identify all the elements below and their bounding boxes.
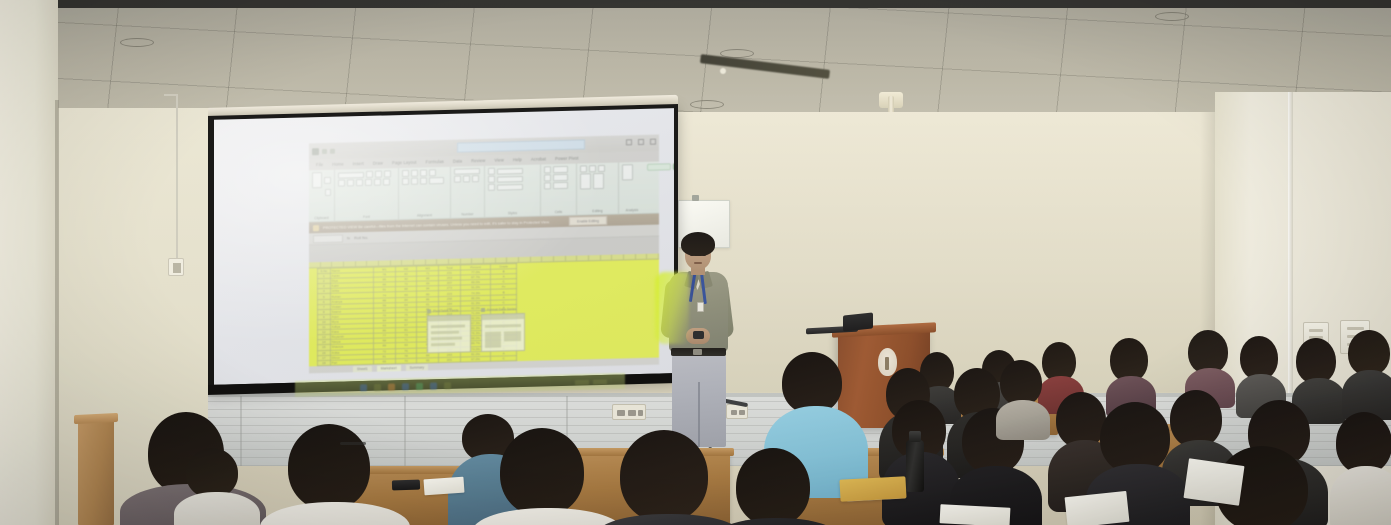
- panel-row: [431, 337, 462, 341]
- group-label: Clipboard: [312, 216, 331, 221]
- restore-icon[interactable]: [638, 139, 644, 145]
- panel-checkbox[interactable]: [481, 308, 485, 312]
- wall-cable: [176, 96, 178, 264]
- ceiling-vent-icon: [120, 38, 154, 47]
- explorer-icon: [388, 383, 395, 390]
- table-cell[interactable]: 65: [374, 358, 396, 364]
- comments-button[interactable]: [673, 163, 674, 171]
- student-body: [1330, 466, 1391, 525]
- bottle-cap: [909, 431, 921, 442]
- projected-excel-window: File Home Insert Draw Page Layout Formul…: [309, 135, 659, 376]
- format-table-icon[interactable]: [488, 176, 495, 183]
- panel-row: [485, 324, 521, 328]
- format-label[interactable]: [553, 182, 568, 189]
- glasses-icon: [340, 442, 366, 445]
- close-icon[interactable]: [650, 139, 656, 145]
- group-label: Analysis: [622, 208, 642, 214]
- student: [1000, 360, 1048, 430]
- align-right-icon[interactable]: [420, 177, 427, 184]
- cable-junction-box: [168, 258, 184, 276]
- tab-formulas[interactable]: Formulas: [426, 159, 444, 164]
- bold-icon[interactable]: [338, 179, 345, 186]
- student: [736, 448, 816, 525]
- start-icon: [360, 384, 367, 391]
- search-input[interactable]: [457, 139, 585, 152]
- window-controls[interactable]: [626, 139, 656, 146]
- format-series-panel-title: Format Data Series: [487, 307, 516, 312]
- tab-acrobat[interactable]: Acrobat: [531, 156, 546, 161]
- student: [1240, 336, 1284, 406]
- clear-icon[interactable]: [598, 165, 605, 172]
- format-cells-icon[interactable]: [544, 182, 551, 189]
- tray-icons: [593, 379, 607, 384]
- fx-icon: fx: [347, 235, 350, 240]
- panel-header: [482, 314, 524, 320]
- insert-label[interactable]: [553, 166, 568, 173]
- panel-row: [485, 332, 501, 348]
- merge-cells-icon[interactable]: [429, 177, 444, 184]
- cut-icon[interactable]: [324, 176, 331, 183]
- ribbon-group-alignment[interactable]: Alignment: [399, 167, 451, 219]
- clock: [575, 379, 589, 384]
- font-size-select[interactable]: [366, 171, 373, 178]
- handheld-device: [693, 331, 704, 339]
- ceiling-vent-icon: [1155, 12, 1189, 21]
- presenter: [655, 232, 739, 447]
- student: [500, 428, 594, 525]
- table-cell[interactable]: 201: [439, 357, 461, 363]
- tab-insert[interactable]: Insert: [353, 161, 364, 166]
- border-icon[interactable]: [365, 179, 372, 186]
- autosum-icon[interactable]: [580, 165, 587, 172]
- font-color-icon[interactable]: [383, 178, 390, 185]
- ribbon-group-styles[interactable]: Styles: [485, 165, 541, 217]
- student: [1348, 330, 1391, 410]
- mouth: [694, 262, 702, 264]
- power-socket[interactable]: [612, 404, 646, 420]
- ceiling-fixture-icon: [720, 68, 726, 74]
- student-glasses: [340, 440, 368, 452]
- align-bottom-icon[interactable]: [420, 169, 427, 176]
- search-icon: [374, 383, 381, 390]
- ribbon-group-font[interactable]: Font: [335, 168, 399, 221]
- currency-icon[interactable]: [454, 176, 461, 183]
- panel-header: [428, 315, 470, 321]
- panel-row: [431, 324, 465, 328]
- wooden-cabinet: [78, 420, 114, 525]
- teams-icon: [444, 382, 451, 389]
- ribbon-group-number[interactable]: Number: [451, 166, 485, 218]
- tab-draw[interactable]: Draw: [373, 161, 383, 166]
- redo-icon[interactable]: [330, 148, 335, 153]
- cell-styles-label[interactable]: [497, 183, 523, 190]
- group-label: Number: [454, 212, 481, 218]
- student-head: [782, 352, 842, 414]
- table-cell[interactable]: 70: [395, 358, 417, 364]
- tab-view[interactable]: View: [494, 157, 503, 162]
- id-badge: [697, 302, 704, 312]
- conditional-formatting-icon[interactable]: [488, 168, 495, 175]
- student-head: [288, 424, 370, 510]
- save-icon[interactable]: [312, 148, 319, 155]
- screen-surface: File Home Insert Draw Page Layout Formul…: [214, 108, 674, 385]
- ribbon[interactable]: Clipboard Font Alignment: [309, 162, 659, 223]
- sheet-tab-sheet1[interactable]: Sheet1: [353, 365, 372, 371]
- student: [186, 448, 248, 525]
- pivottable-panel-title: PivotTable Fields: [433, 309, 459, 314]
- quick-access-toolbar[interactable]: [312, 147, 335, 155]
- group-label: Editing: [580, 209, 615, 215]
- mobile-phone: [392, 480, 420, 491]
- ceiling-top-strip: [0, 0, 1391, 8]
- align-center-icon[interactable]: [411, 178, 418, 185]
- student-head: [186, 448, 238, 498]
- tab-review[interactable]: Review: [471, 158, 485, 163]
- tab-help[interactable]: Help: [513, 157, 522, 162]
- find-select-icon[interactable]: [593, 173, 604, 189]
- conditional-formatting-label[interactable]: [497, 167, 523, 174]
- tab-home[interactable]: Home: [332, 162, 344, 167]
- percent-icon[interactable]: [463, 175, 470, 182]
- papers: [1183, 458, 1244, 505]
- warning-icon: [313, 225, 319, 231]
- projector-light-glare: [655, 272, 689, 344]
- ribbon-group-analysis[interactable]: Analysis: [619, 162, 645, 214]
- share-button[interactable]: [647, 163, 671, 171]
- tab-file[interactable]: File: [316, 162, 323, 167]
- table-cell[interactable]: 18: [318, 360, 331, 365]
- tab-power-pivot[interactable]: Power Pivot: [555, 156, 578, 162]
- water-bottle: [906, 440, 924, 492]
- classroom-photo: File Home Insert Draw Page Layout Formul…: [0, 0, 1391, 525]
- format-series-panel[interactable]: [481, 313, 525, 352]
- chrome-icon: [402, 383, 409, 390]
- student-head: [620, 430, 708, 522]
- fill-color-icon[interactable]: [374, 179, 381, 186]
- papers: [940, 504, 1011, 525]
- copy-icon[interactable]: [325, 189, 331, 196]
- italic-icon[interactable]: [347, 179, 354, 186]
- ribbon-group-clipboard[interactable]: Clipboard: [309, 170, 335, 222]
- align-left-icon[interactable]: [402, 178, 409, 185]
- ribbon-group-editing[interactable]: Editing: [577, 163, 619, 215]
- panel-row: [431, 343, 455, 347]
- whiteboard-clip-icon: [692, 195, 699, 201]
- ceiling-vent-icon: [720, 49, 754, 58]
- group-label: Cells: [544, 210, 573, 216]
- format-table-label[interactable]: [497, 175, 523, 182]
- left-wall-edge: [55, 100, 59, 525]
- worksheet-grid[interactable]: S.NoNameM1M2M3TotalPercentGrade1Aarav788…: [309, 254, 659, 367]
- belt-buckle: [693, 349, 702, 355]
- textbook: [839, 476, 906, 501]
- underline-icon[interactable]: [356, 179, 363, 186]
- laptop-screen[interactable]: [843, 312, 873, 331]
- projection-screen[interactable]: File Home Insert Draw Page Layout Formul…: [206, 104, 678, 392]
- analyze-data-icon[interactable]: [622, 164, 633, 180]
- student-body: [996, 400, 1050, 440]
- panel-row: [431, 331, 459, 335]
- student-body: [174, 492, 260, 525]
- table-cell[interactable]: C: [491, 355, 517, 361]
- student: [620, 430, 716, 525]
- cell-styles-icon[interactable]: [488, 184, 495, 191]
- comma-icon[interactable]: [472, 175, 479, 182]
- excel-icon: [416, 382, 423, 389]
- papers: [1065, 491, 1130, 525]
- orientation-icon[interactable]: [429, 169, 436, 176]
- ribbon-group-cells[interactable]: Cells: [541, 164, 577, 216]
- student-head: [736, 448, 810, 525]
- ribbon-right-buttons[interactable]: [645, 161, 674, 213]
- insert-cells-icon[interactable]: [544, 166, 551, 173]
- presenter-hair: [681, 232, 715, 256]
- undo-icon[interactable]: [322, 148, 327, 153]
- increase-font-icon[interactable]: [375, 171, 382, 178]
- student-head: [500, 428, 584, 516]
- ceiling-vent-icon: [690, 100, 724, 109]
- student: [1110, 338, 1154, 410]
- panel-row: [504, 331, 521, 341]
- delete-label[interactable]: [553, 174, 568, 181]
- enable-editing-button[interactable]: Enable Editing: [569, 216, 607, 226]
- table-cell[interactable]: 66: [417, 357, 439, 363]
- tab-page-layout[interactable]: Page Layout: [392, 160, 417, 166]
- font-name-select[interactable]: [338, 172, 364, 179]
- student: [1336, 412, 1391, 525]
- minimize-icon[interactable]: [626, 139, 632, 145]
- align-top-icon[interactable]: [402, 170, 409, 177]
- align-middle-icon[interactable]: [411, 170, 418, 177]
- panel-checkbox[interactable]: [427, 309, 431, 313]
- decrease-font-icon[interactable]: [384, 170, 391, 177]
- name-box[interactable]: [313, 234, 343, 243]
- fill-icon[interactable]: [589, 165, 596, 172]
- tab-data[interactable]: Data: [453, 159, 462, 164]
- taskbar-tray: [575, 378, 625, 384]
- sheet-tab-summary[interactable]: Summary: [406, 364, 429, 371]
- student-head: [1336, 412, 1391, 474]
- number-format-select[interactable]: [454, 168, 480, 175]
- sort-filter-icon[interactable]: [580, 173, 591, 189]
- wainscot-seam: [404, 396, 406, 466]
- papers: [423, 477, 464, 496]
- paste-icon[interactable]: [312, 172, 322, 188]
- word-icon: [430, 382, 437, 389]
- left-wall: [0, 0, 58, 525]
- pivottable-fields-panel[interactable]: [427, 314, 471, 353]
- delete-cells-icon[interactable]: [544, 174, 551, 181]
- sheet-tab-marksheet[interactable]: Marksheet: [377, 365, 401, 372]
